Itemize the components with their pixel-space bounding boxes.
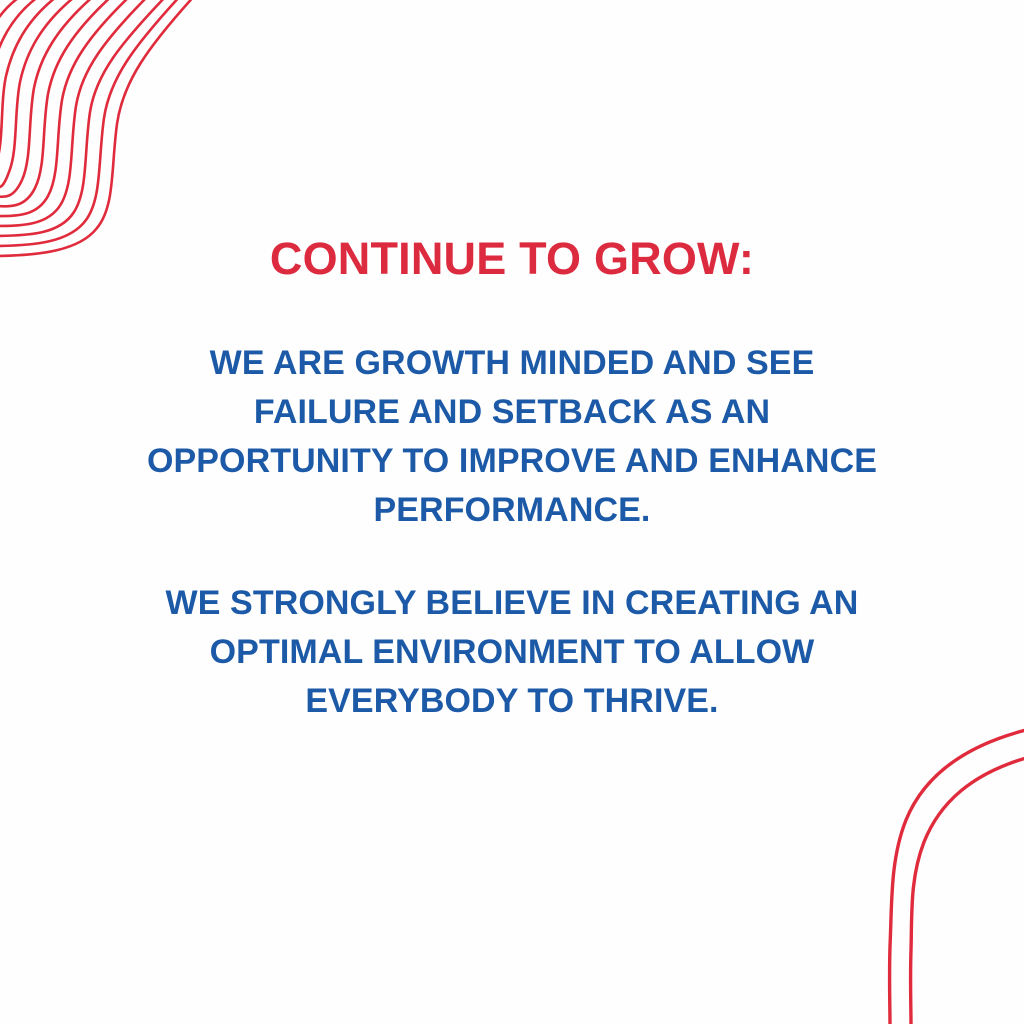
slide-content: CONTINUE TO GROW: WE ARE GROWTH MINDED A… bbox=[0, 234, 1024, 726]
paragraph-line: EVERYBODY TO THRIVE. bbox=[166, 677, 859, 726]
page-title: CONTINUE TO GROW: bbox=[230, 234, 794, 284]
paragraph-line: FAILURE AND SETBACK AS AN bbox=[147, 388, 877, 437]
paragraph-line: WE ARE GROWTH MINDED AND SEE bbox=[147, 339, 877, 388]
paragraph-line: WE STRONGLY BELIEVE IN CREATING AN bbox=[166, 579, 859, 628]
paragraph-line: PERFORMANCE. bbox=[147, 486, 877, 535]
body-text-block: WE ARE GROWTH MINDED AND SEE FAILURE AND… bbox=[147, 339, 877, 726]
slide-canvas: CONTINUE TO GROW: WE ARE GROWTH MINDED A… bbox=[0, 0, 1024, 1024]
paragraph-growth-mindset: WE ARE GROWTH MINDED AND SEE FAILURE AND… bbox=[147, 339, 877, 535]
bottom-right-curve-decoration bbox=[764, 724, 1024, 1024]
paragraph-line: OPPORTUNITY TO IMPROVE AND ENHANCE bbox=[147, 437, 877, 486]
paragraph-optimal-environment: WE STRONGLY BELIEVE IN CREATING AN OPTIM… bbox=[166, 579, 859, 726]
paragraph-line: OPTIMAL ENVIRONMENT TO ALLOW bbox=[166, 628, 859, 677]
